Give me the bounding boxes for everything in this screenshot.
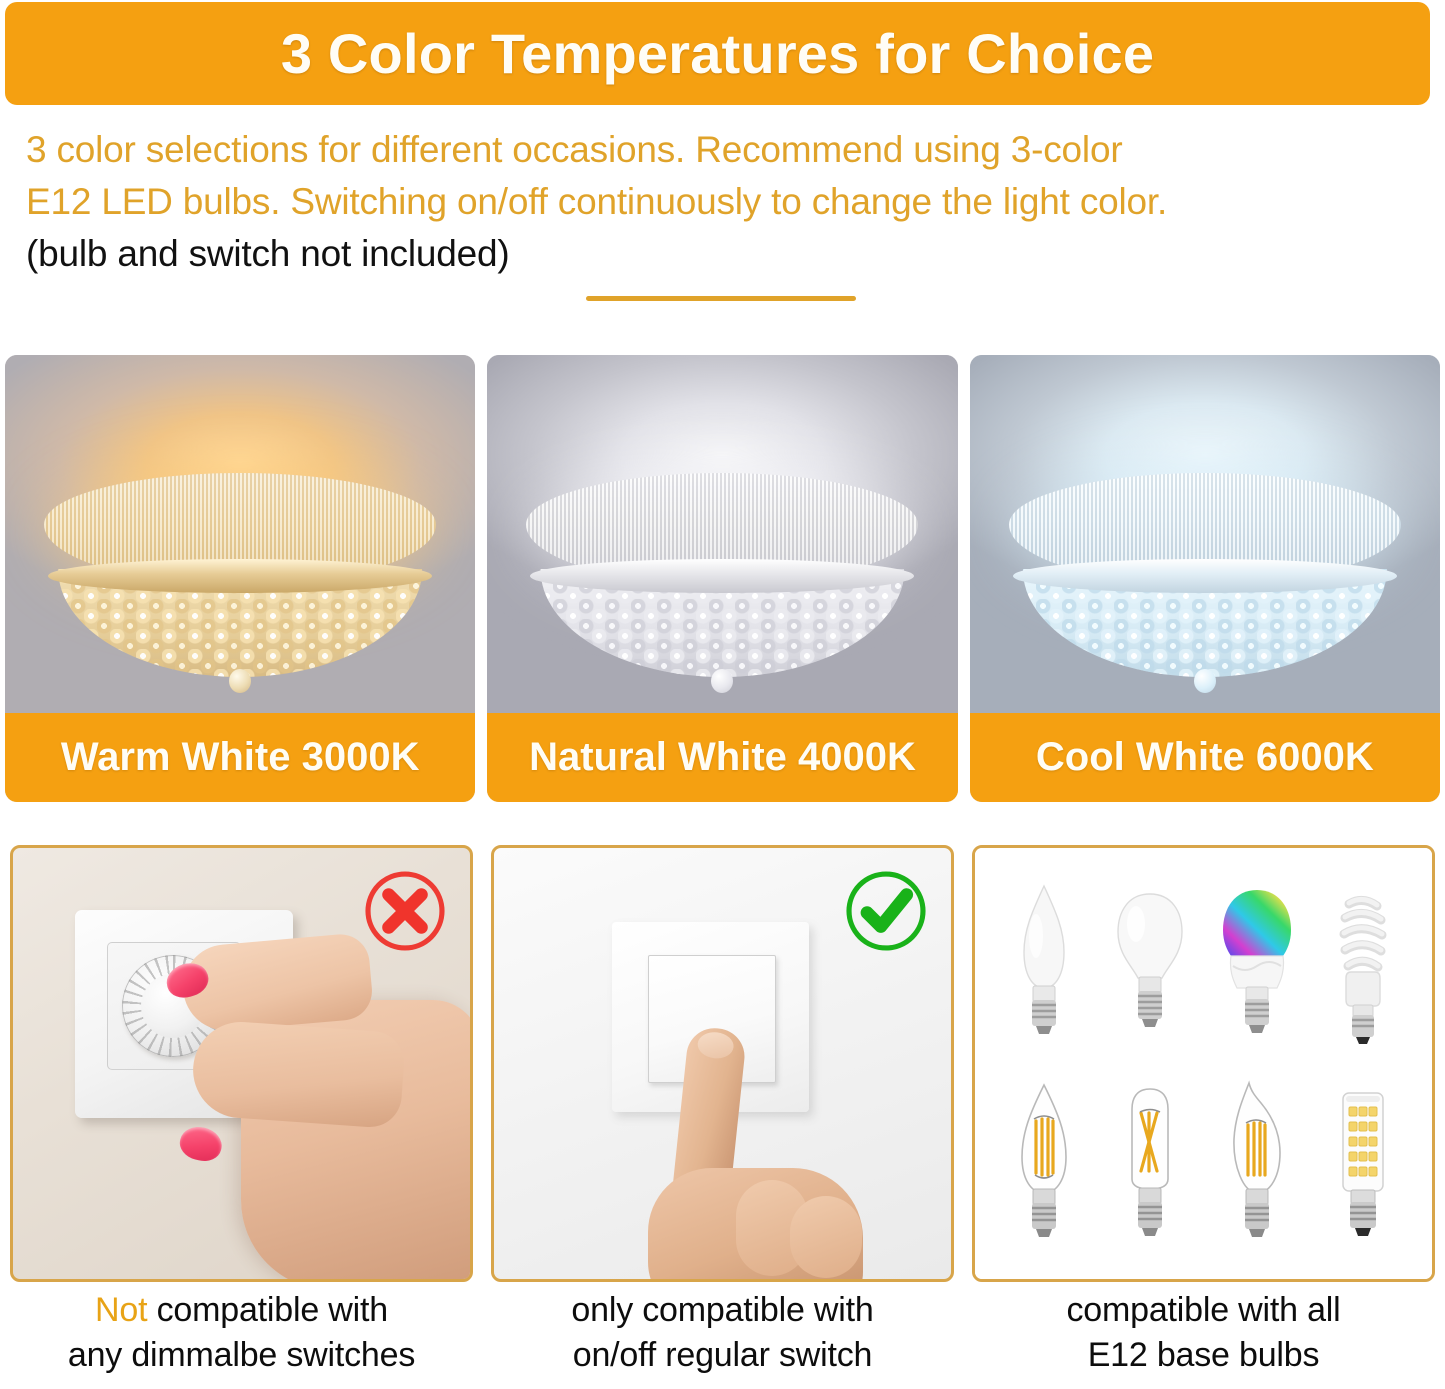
caption-line-1: compatible with (147, 1291, 388, 1329)
temperature-card-warm-white[interactable]: Warm White 3000K (5, 355, 475, 802)
temperature-label-text: Cool White 6000K (1036, 735, 1374, 780)
caption-rocker: only compatible with on/off regular swit… (491, 1288, 954, 1388)
fixture-metal-band (1013, 559, 1397, 593)
crystal-flush-mount-fixture-natural (526, 473, 918, 685)
hand-turning-dimmer (183, 940, 473, 1282)
crystal-flush-mount-fixture-cool (1009, 473, 1401, 685)
caption-bulbs: compatible with all E12 base bulbs (972, 1288, 1435, 1388)
bulb-corn-led-icon (1321, 1079, 1405, 1249)
hand-pressing-switch (634, 1028, 924, 1282)
hand-finger-lower (190, 1019, 406, 1129)
temperature-card-cool-white[interactable]: Cool White 6000K (970, 355, 1440, 802)
fixture-finial (711, 669, 733, 693)
ceiling-light-photo-warm (5, 355, 475, 713)
temperature-label-text: Natural White 4000K (529, 735, 916, 780)
fixture-metal-band (48, 559, 432, 593)
crystal-flush-mount-fixture-warm (44, 473, 436, 685)
bulb-cell (1097, 1064, 1203, 1266)
temperature-label-strip-natural: Natural White 4000K (487, 713, 957, 802)
bulb-cell (1204, 1064, 1310, 1266)
compatibility-panel-row (10, 845, 1435, 1282)
bulb-cell (1097, 862, 1203, 1064)
bulb-filament-flame-icon (1215, 1079, 1299, 1249)
cross-badge-icon (362, 868, 448, 954)
intro-line-1: 3 color selections for different occasio… (26, 124, 1426, 176)
bulb-cell (1204, 862, 1310, 1064)
temperature-label-text: Warm White 3000K (61, 735, 420, 780)
hand-knuckle (790, 1196, 862, 1278)
fingernail-pink (177, 1123, 226, 1165)
caption-line-2: on/off regular switch (573, 1336, 872, 1374)
caption-accent-word: Not (95, 1291, 147, 1329)
panel-e12-bulb-grid (972, 845, 1435, 1282)
fixture-metal-band (530, 559, 914, 593)
bulb-grid (975, 848, 1432, 1279)
bulb-filament-tube-icon (1108, 1079, 1192, 1249)
caption-dimmer: Not compatible with any dimmalbe switche… (10, 1288, 473, 1388)
panel-dimmer-switch (10, 845, 473, 1282)
fixture-finial (229, 669, 251, 693)
fixture-finial (1194, 669, 1216, 693)
bulb-cfl-spiral-icon (1321, 878, 1405, 1048)
intro-paragraph: 3 color selections for different occasio… (26, 124, 1426, 280)
ceiling-light-photo-natural (487, 355, 957, 713)
bulb-cell (1310, 862, 1416, 1064)
caption-line-2: E12 base bulbs (1088, 1336, 1320, 1374)
bulb-frosted-globe-icon (1108, 878, 1192, 1048)
section-divider (586, 296, 856, 301)
temperature-card-row: Warm White 3000K Natural White 4000K (5, 355, 1440, 802)
panel-rocker-switch (491, 845, 954, 1282)
bulb-cell (991, 862, 1097, 1064)
caption-line-2: any dimmalbe switches (68, 1336, 415, 1374)
caption-line-1: only compatible with (571, 1291, 873, 1329)
caption-row: Not compatible with any dimmalbe switche… (10, 1288, 1435, 1388)
bulb-rgb-icon (1215, 878, 1299, 1048)
page-title: 3 Color Temperatures for Choice (281, 21, 1154, 86)
header-banner: 3 Color Temperatures for Choice (5, 2, 1430, 105)
intro-line-3: (bulb and switch not included) (26, 228, 1426, 280)
bulb-cell (991, 1064, 1097, 1266)
caption-line-1: compatible with all (1067, 1291, 1341, 1329)
hand-finger-upper (180, 932, 375, 1034)
bulb-cell (1310, 1064, 1416, 1266)
bulb-frosted-candle-icon (1002, 878, 1086, 1048)
intro-line-2: E12 LED bulbs. Switching on/off continuo… (26, 176, 1426, 228)
check-badge-icon (843, 868, 929, 954)
bulb-filament-candle-icon (1002, 1079, 1086, 1249)
temperature-card-natural-white[interactable]: Natural White 4000K (487, 355, 957, 802)
ceiling-light-photo-cool (970, 355, 1440, 713)
temperature-label-strip-warm: Warm White 3000K (5, 713, 475, 802)
temperature-label-strip-cool: Cool White 6000K (970, 713, 1440, 802)
